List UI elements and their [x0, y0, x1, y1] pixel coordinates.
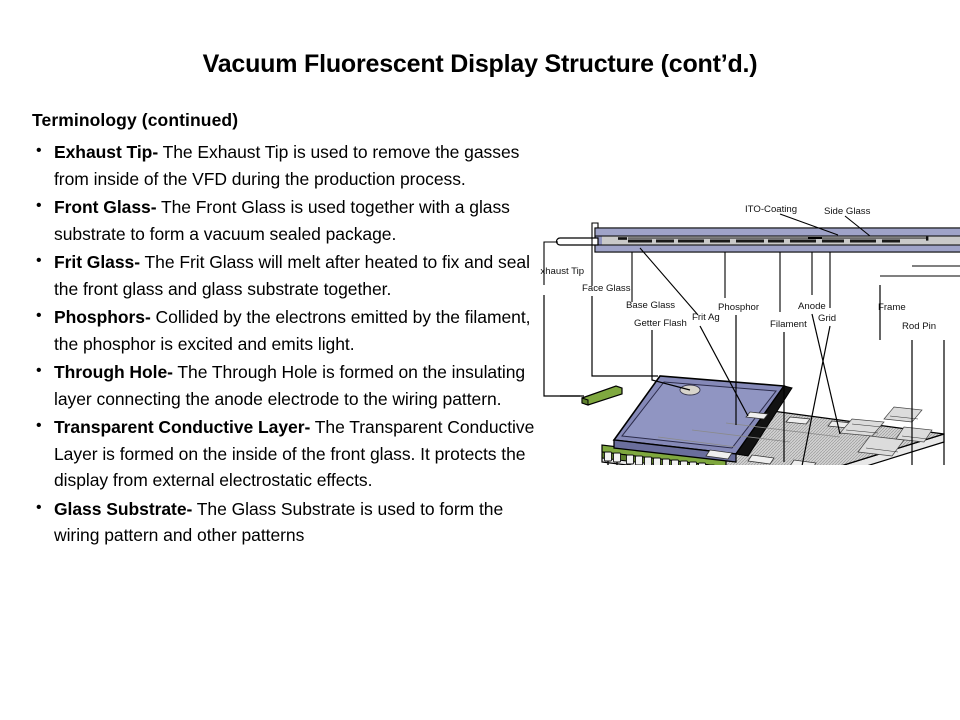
label-grid: Grid — [818, 313, 836, 324]
cross-section-labels: ITO-Coating Side Glass Exhaust Tip Face … — [540, 204, 936, 332]
term-label: Exhaust Tip- — [54, 142, 158, 162]
term-label: Transparent Conductive Layer- — [54, 417, 310, 437]
label-side-glass: Side Glass — [824, 206, 871, 217]
list-item: Frit Glass- The Frit Glass will melt aft… — [32, 249, 552, 302]
terminology-list: Exhaust Tip- The Exhaust Tip is used to … — [32, 139, 552, 549]
face-glass-band — [595, 228, 960, 236]
term-label: Glass Substrate- — [54, 499, 192, 519]
cross-section-view — [557, 228, 960, 252]
label-getter-flash: Getter Flash — [634, 318, 687, 329]
content-column: Terminology (continued) Exhaust Tip- The… — [32, 110, 552, 551]
label-filament: Filament — [770, 319, 807, 330]
label-exhaust-tip: Exhaust Tip — [540, 266, 584, 277]
page-title: Vacuum Fluorescent Display Structure (co… — [0, 50, 960, 79]
label-rod-pin: Rod Pin — [902, 321, 936, 332]
list-item: Glass Substrate- The Glass Substrate is … — [32, 496, 552, 549]
label-phosphor: Phosphor — [718, 302, 760, 313]
label-anode: Anode — [798, 301, 826, 312]
list-item: Through Hole- The Through Hole is formed… — [32, 359, 552, 412]
section-subheading: Terminology (continued) — [32, 110, 552, 131]
base-glass-band — [595, 245, 960, 252]
ito-coating-mark — [926, 237, 928, 241]
list-item: Exhaust Tip- The Exhaust Tip is used to … — [32, 139, 552, 192]
term-label: Frit Glass- — [54, 252, 140, 272]
list-item: Phosphors- Collided by the electrons emi… — [32, 304, 552, 357]
term-label: Front Glass- — [54, 197, 156, 217]
label-ito-coating: ITO-Coating — [745, 204, 797, 215]
vfd-structure-diagram: ITO-Coating Side Glass Exhaust Tip Face … — [540, 190, 960, 465]
term-label: Through Hole- — [54, 362, 173, 382]
label-frit-ag: Frit Ag — [692, 312, 720, 323]
label-base-glass: Base Glass — [626, 300, 675, 311]
label-face-glass: Face Glass — [582, 283, 631, 294]
list-item: Transparent Conductive Layer- The Transp… — [32, 414, 552, 494]
label-frame: Frame — [878, 302, 906, 313]
list-item: Front Glass- The Front Glass is used tog… — [32, 194, 552, 247]
term-label: Phosphors- — [54, 307, 151, 327]
